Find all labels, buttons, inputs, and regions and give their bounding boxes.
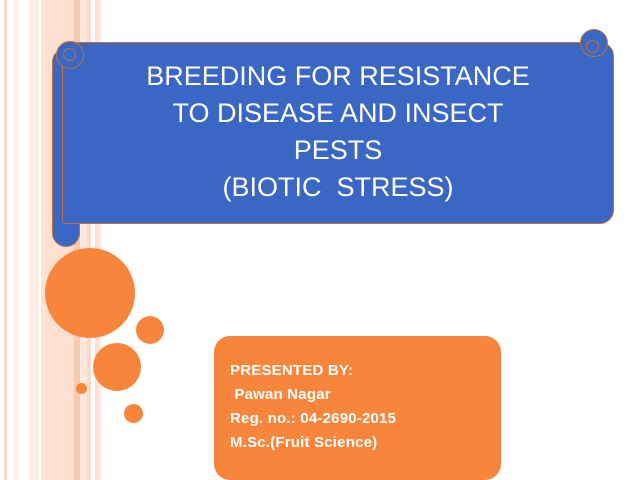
decor-stripe-0 — [4, 0, 7, 480]
slide-title: BREEDING FOR RESISTANCE TO DISEASE AND I… — [82, 58, 594, 206]
decor-circle-small — [136, 316, 164, 344]
decor-circle-large — [45, 248, 135, 338]
scroll-curl-left-inner-icon — [63, 48, 76, 61]
decor-stripe-1 — [13, 0, 19, 480]
registration-number: Reg. no.: 04-2690-2015 — [230, 410, 396, 427]
scroll-curl-right-inner-icon — [586, 40, 599, 53]
degree-program: M.Sc.(Fruit Science) — [230, 434, 377, 451]
title-banner: BREEDING FOR RESISTANCE TO DISEASE AND I… — [52, 42, 614, 247]
presenter-name: Pawan Nagar — [230, 386, 331, 403]
decor-circle-medium — [93, 343, 141, 391]
decor-circle-xsmall — [124, 404, 143, 423]
presented-by-label: PRESENTED BY: — [230, 362, 353, 379]
presentation-slide: BREEDING FOR RESISTANCE TO DISEASE AND I… — [0, 0, 640, 480]
decor-stripe-3 — [29, 0, 39, 480]
presenter-box: PRESENTED BY: Pawan Nagar Reg. no.: 04-2… — [214, 336, 501, 480]
decor-stripe-2 — [22, 0, 27, 480]
decor-circle-tiny — [76, 383, 87, 394]
